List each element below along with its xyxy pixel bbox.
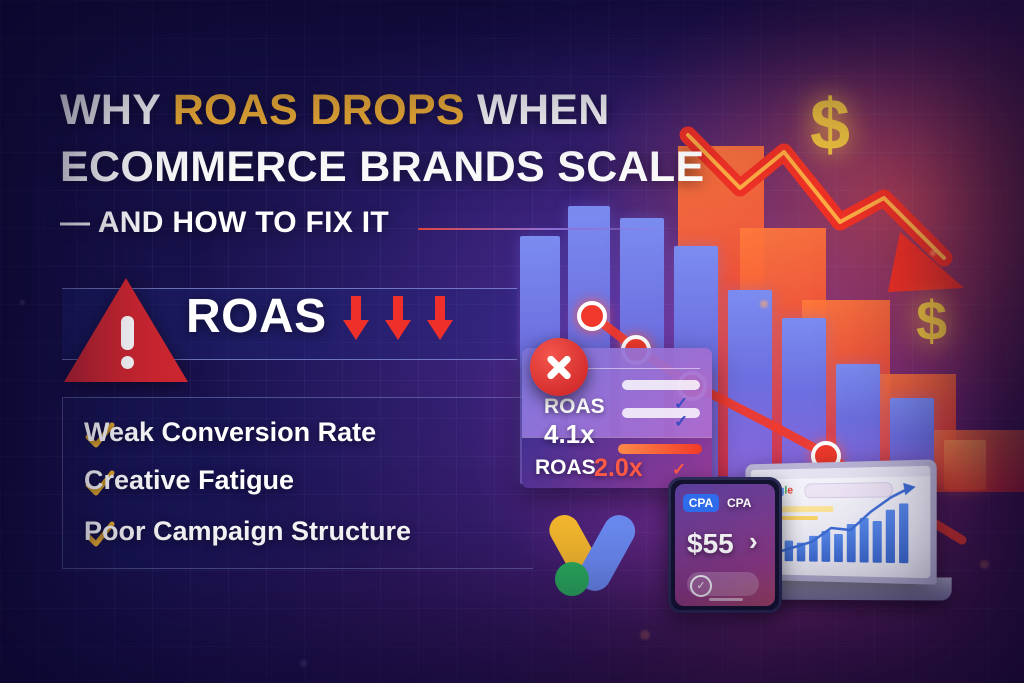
vignette [0,0,1024,683]
poster-canvas: $ $ WHY ROAS DROPS WHEN ECOMMERCE BRANDS… [0,0,1024,683]
